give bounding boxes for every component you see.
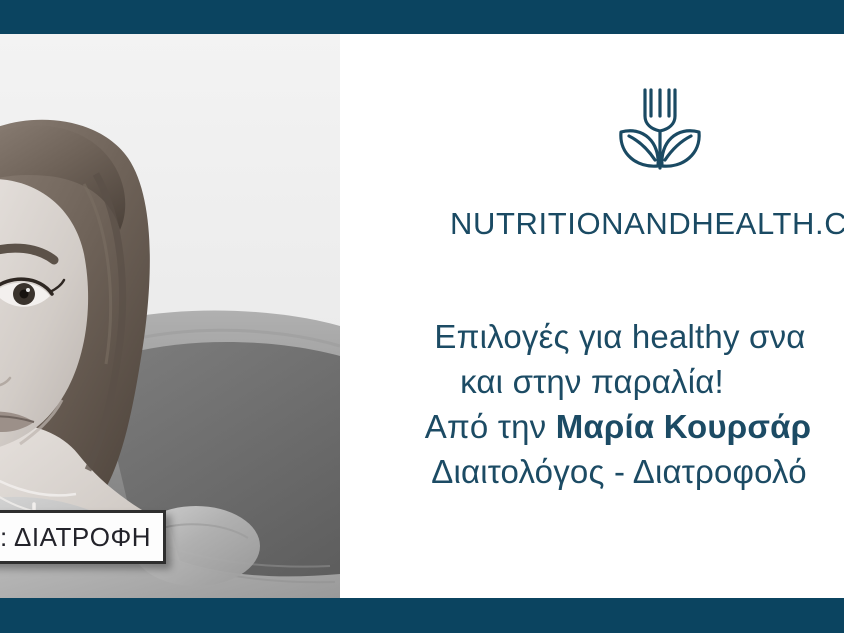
category-label: : ΔΙΑΤΡΟΦΗ (0, 510, 166, 564)
bottom-navy-band (0, 598, 844, 633)
presenter-name: Μαρία Κουρσάρ (556, 408, 812, 445)
headline-line-4: Διαιτολόγος - Διατροφολό (394, 449, 844, 494)
promo-banner: : ΔΙΑΤΡΟΦΗ (0, 0, 844, 633)
brand-wordmark: NUTRITIONANDHEALTH.CAR (450, 206, 844, 242)
headline-line-3-prefix: Από την (425, 408, 556, 445)
top-navy-band (0, 0, 844, 34)
headline-block: Επιλογές για healthy σνα και στην παραλί… (340, 314, 844, 494)
headline-line-2: και στην παραλία! (340, 359, 844, 404)
content-panel: NUTRITIONANDHEALTH.CAR Επιλογές για heal… (340, 34, 844, 598)
headline-line-1: Επιλογές για healthy σνα (396, 314, 844, 359)
headline-line-3: Από την Μαρία Κουρσάρ (392, 404, 844, 449)
fork-and-leaves-icon (615, 86, 705, 172)
portrait-photo: : ΔΙΑΤΡΟΦΗ (0, 34, 340, 598)
category-label-text: : ΔΙΑΤΡΟΦΗ (0, 522, 151, 553)
